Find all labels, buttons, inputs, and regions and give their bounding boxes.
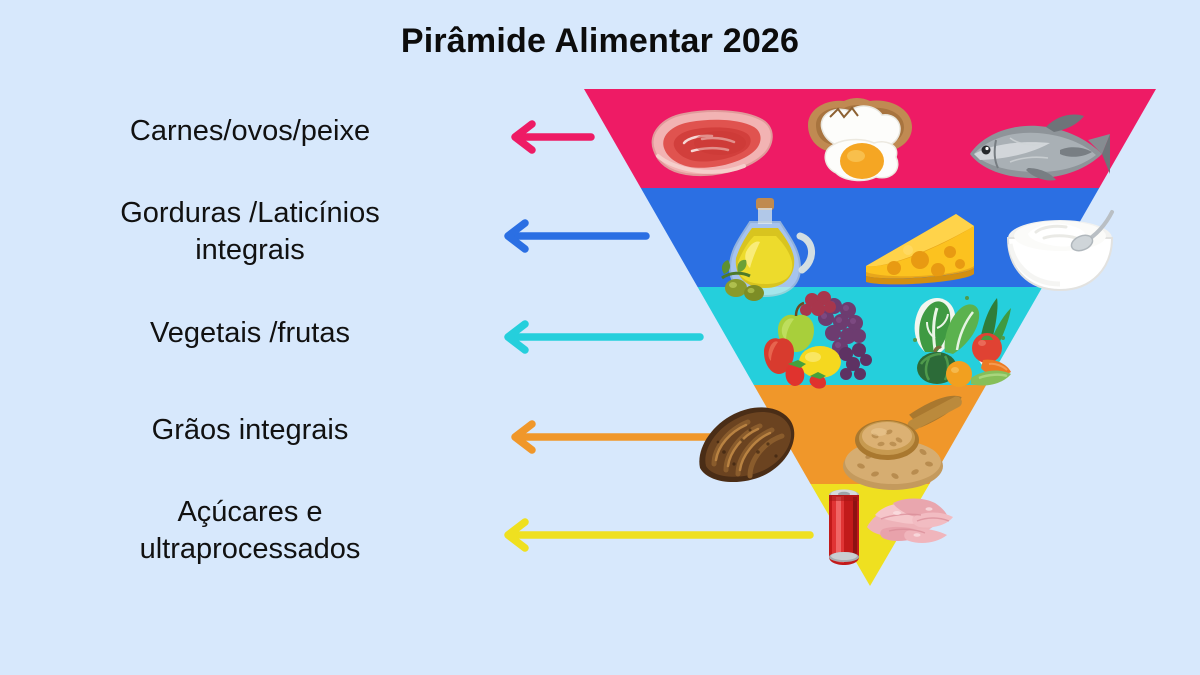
band-label-vegetables: Vegetais /frutas bbox=[35, 315, 465, 352]
arrow-to-meat-band bbox=[509, 120, 593, 154]
infographic-canvas: Pirâmide Alimentar 2026 Carnes/ovos/peix… bbox=[0, 0, 1200, 675]
pyramid-band-fats bbox=[641, 188, 1099, 287]
band-label-fats: Gorduras /Laticínios integrais bbox=[35, 195, 465, 269]
band-label-meat: Carnes/ovos/peixe bbox=[35, 113, 465, 150]
band-label-sugars: Açúcares e ultraprocessados bbox=[35, 494, 465, 568]
band-label-grains: Grãos integrais bbox=[35, 412, 465, 449]
pyramid-band-meat bbox=[584, 89, 1156, 188]
pyramid-band-sugars bbox=[811, 484, 930, 586]
page-title: Pirâmide Alimentar 2026 bbox=[0, 22, 1200, 61]
pyramid-band-grains bbox=[754, 385, 986, 484]
inverted-food-pyramid bbox=[584, 89, 1156, 587]
pyramid-band-vegetables bbox=[698, 287, 1043, 385]
